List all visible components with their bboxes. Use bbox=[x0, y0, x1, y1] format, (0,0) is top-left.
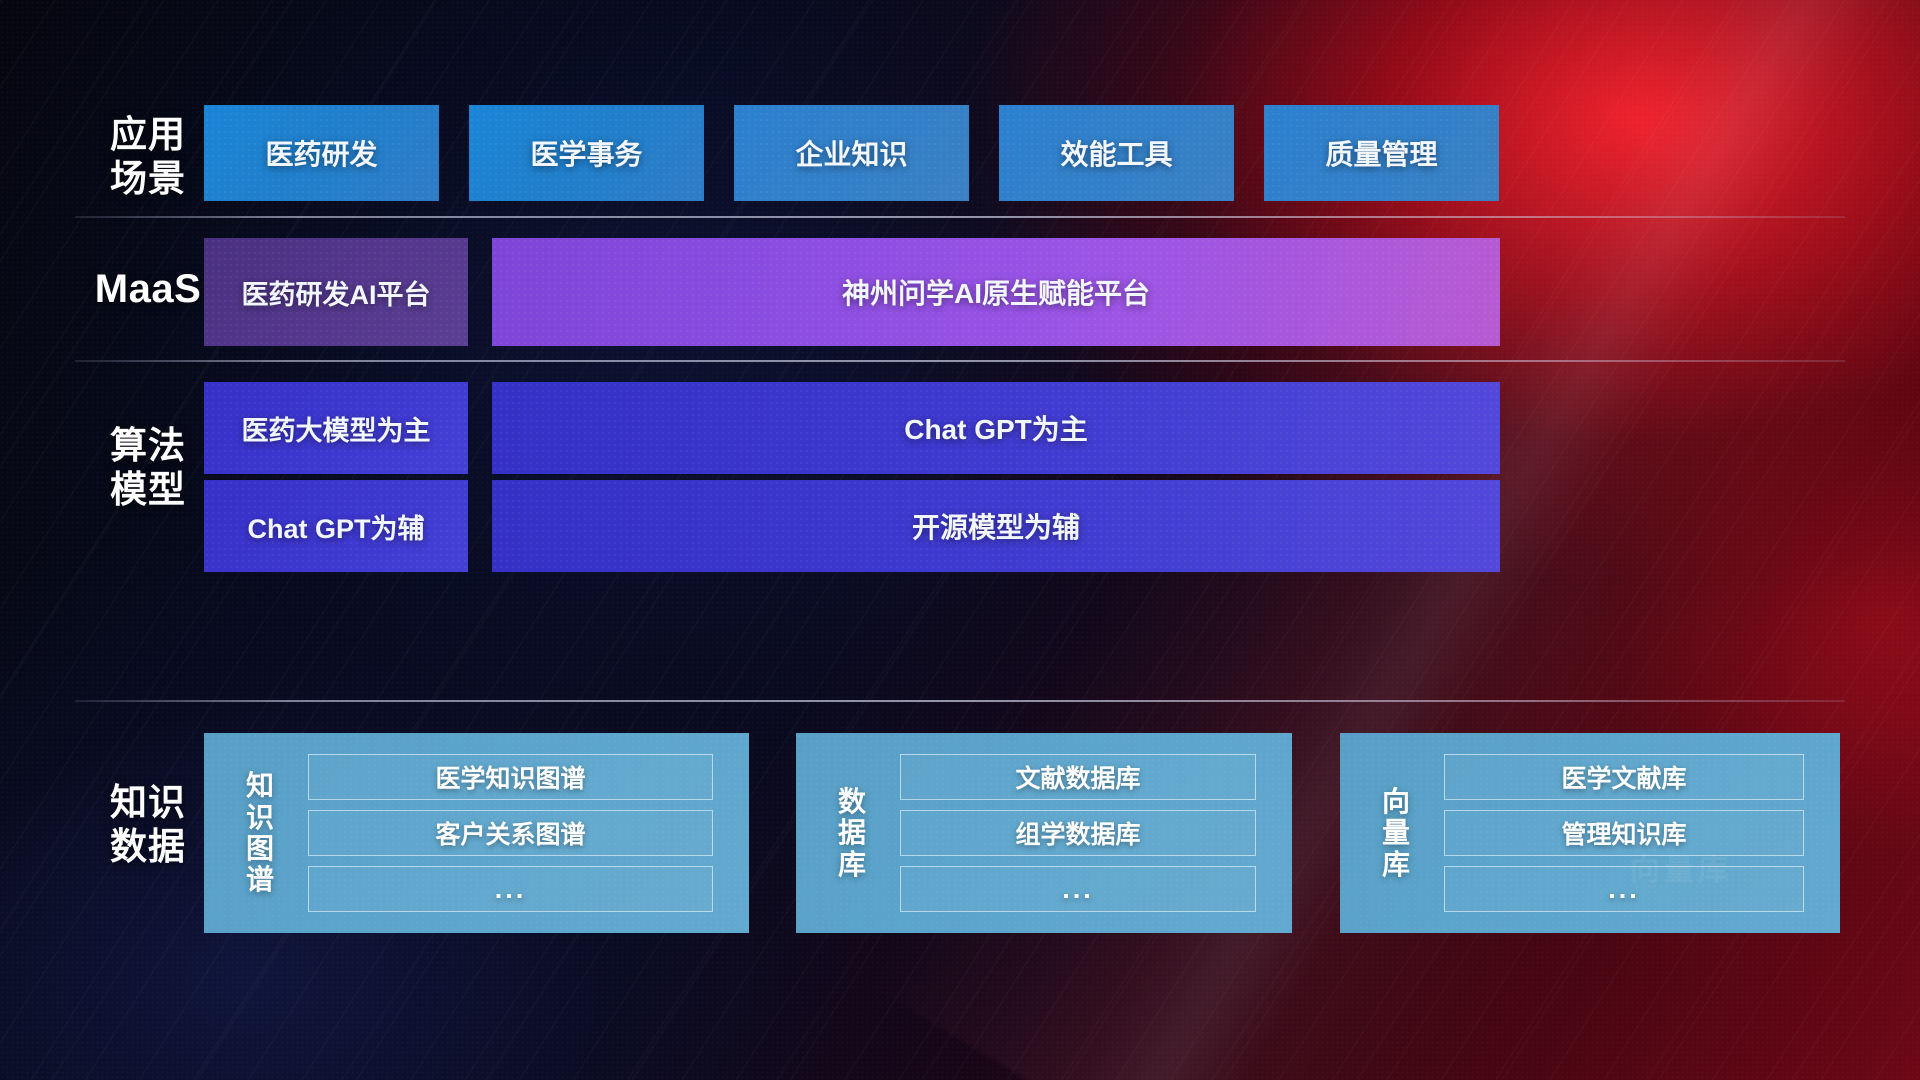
knowledge-item[interactable]: 医学知识图谱 bbox=[308, 754, 713, 800]
app-card-label: 企业知识 bbox=[795, 133, 907, 173]
knowledge-group-vector-store[interactable]: 向量库 向量库 医学文献库 管理知识库 ... bbox=[1340, 733, 1840, 933]
knowledge-group-items: 文献数据库 组学数据库 ... bbox=[890, 754, 1280, 912]
knowledge-item-more[interactable]: ... bbox=[308, 866, 713, 912]
algo-card-label: Chat GPT为辅 bbox=[247, 507, 424, 546]
divider-after-application bbox=[75, 216, 1845, 218]
layer-application-scenarios: 应用场景 医药研发 医学事务 企业知识 效能工具 质量管理 bbox=[0, 105, 1920, 201]
knowledge-item[interactable]: 医学文献库 bbox=[1444, 754, 1804, 800]
knowledge-item-more[interactable]: ... bbox=[900, 866, 1256, 912]
knowledge-item[interactable]: 文献数据库 bbox=[900, 754, 1256, 800]
row-label-knowledge-data: 知识数据 bbox=[78, 781, 218, 868]
app-card-medical-affairs[interactable]: 医学事务 bbox=[469, 105, 704, 201]
divider-after-maas bbox=[75, 360, 1845, 362]
layer-algorithm-models: 算法模型 医药大模型为主 Chat GPT为主 Chat GPT为辅 开源模型为… bbox=[0, 382, 1920, 572]
knowledge-item[interactable]: 组学数据库 bbox=[900, 810, 1256, 856]
app-card-label: 质量管理 bbox=[1325, 133, 1437, 173]
knowledge-group-title: 向量库 bbox=[1368, 786, 1424, 880]
row-label-maas: MaaS bbox=[78, 266, 218, 313]
app-card-enterprise-knowledge[interactable]: 企业知识 bbox=[734, 105, 969, 201]
row-label-application-scenarios: 应用场景 bbox=[78, 113, 218, 200]
app-card-label: 效能工具 bbox=[1060, 133, 1172, 173]
algo-card-label: 医药大模型为主 bbox=[242, 409, 431, 448]
knowledge-group-title: 数据库 bbox=[824, 786, 880, 880]
knowledge-group-knowledge-graph[interactable]: 知识图谱 医学知识图谱 客户关系图谱 ... bbox=[204, 733, 749, 933]
maas-card-drug-rd-ai-platform[interactable]: 医药研发AI平台 bbox=[204, 238, 468, 346]
algo-card-label: Chat GPT为主 bbox=[904, 408, 1088, 448]
knowledge-group-items: 医学知识图谱 客户关系图谱 ... bbox=[298, 754, 737, 912]
app-card-label: 医学事务 bbox=[530, 133, 642, 173]
row-label-algorithm-models: 算法模型 bbox=[78, 424, 218, 511]
algo-card-label: 开源模型为辅 bbox=[912, 506, 1080, 546]
diagram-canvas: 应用场景 医药研发 医学事务 企业知识 效能工具 质量管理 MaaS 医药研发A… bbox=[0, 0, 1920, 1080]
app-card-efficiency-tools[interactable]: 效能工具 bbox=[999, 105, 1234, 201]
knowledge-group-items: 医学文献库 管理知识库 ... bbox=[1434, 754, 1828, 912]
layer-maas: MaaS 医药研发AI平台 神州问学AI原生赋能平台 bbox=[0, 238, 1920, 346]
algo-card-chatgpt-primary[interactable]: Chat GPT为主 bbox=[492, 382, 1500, 474]
maas-card-label: 医药研发AI平台 bbox=[242, 273, 431, 312]
maas-card-label: 神州问学AI原生赋能平台 bbox=[842, 272, 1150, 312]
knowledge-item-more[interactable]: ... bbox=[1444, 866, 1804, 912]
maas-card-shenzhou-wenxue-platform[interactable]: 神州问学AI原生赋能平台 bbox=[492, 238, 1500, 346]
app-card-quality-management[interactable]: 质量管理 bbox=[1264, 105, 1499, 201]
algo-card-drug-large-model-primary[interactable]: 医药大模型为主 bbox=[204, 382, 468, 474]
divider-after-algorithm bbox=[75, 700, 1845, 702]
knowledge-item[interactable]: 客户关系图谱 bbox=[308, 810, 713, 856]
app-card-label: 医药研发 bbox=[265, 133, 377, 173]
app-card-drug-rd[interactable]: 医药研发 bbox=[204, 105, 439, 201]
knowledge-group-title: 知识图谱 bbox=[232, 770, 288, 895]
layer-knowledge-data: 知识数据 知识图谱 医学知识图谱 客户关系图谱 ... 数据库 文献数据库 组学… bbox=[0, 733, 1920, 933]
knowledge-item[interactable]: 管理知识库 bbox=[1444, 810, 1804, 856]
knowledge-group-database[interactable]: 数据库 文献数据库 组学数据库 ... bbox=[796, 733, 1292, 933]
algo-card-chatgpt-secondary[interactable]: Chat GPT为辅 bbox=[204, 480, 468, 572]
algo-card-open-source-secondary[interactable]: 开源模型为辅 bbox=[492, 480, 1500, 572]
